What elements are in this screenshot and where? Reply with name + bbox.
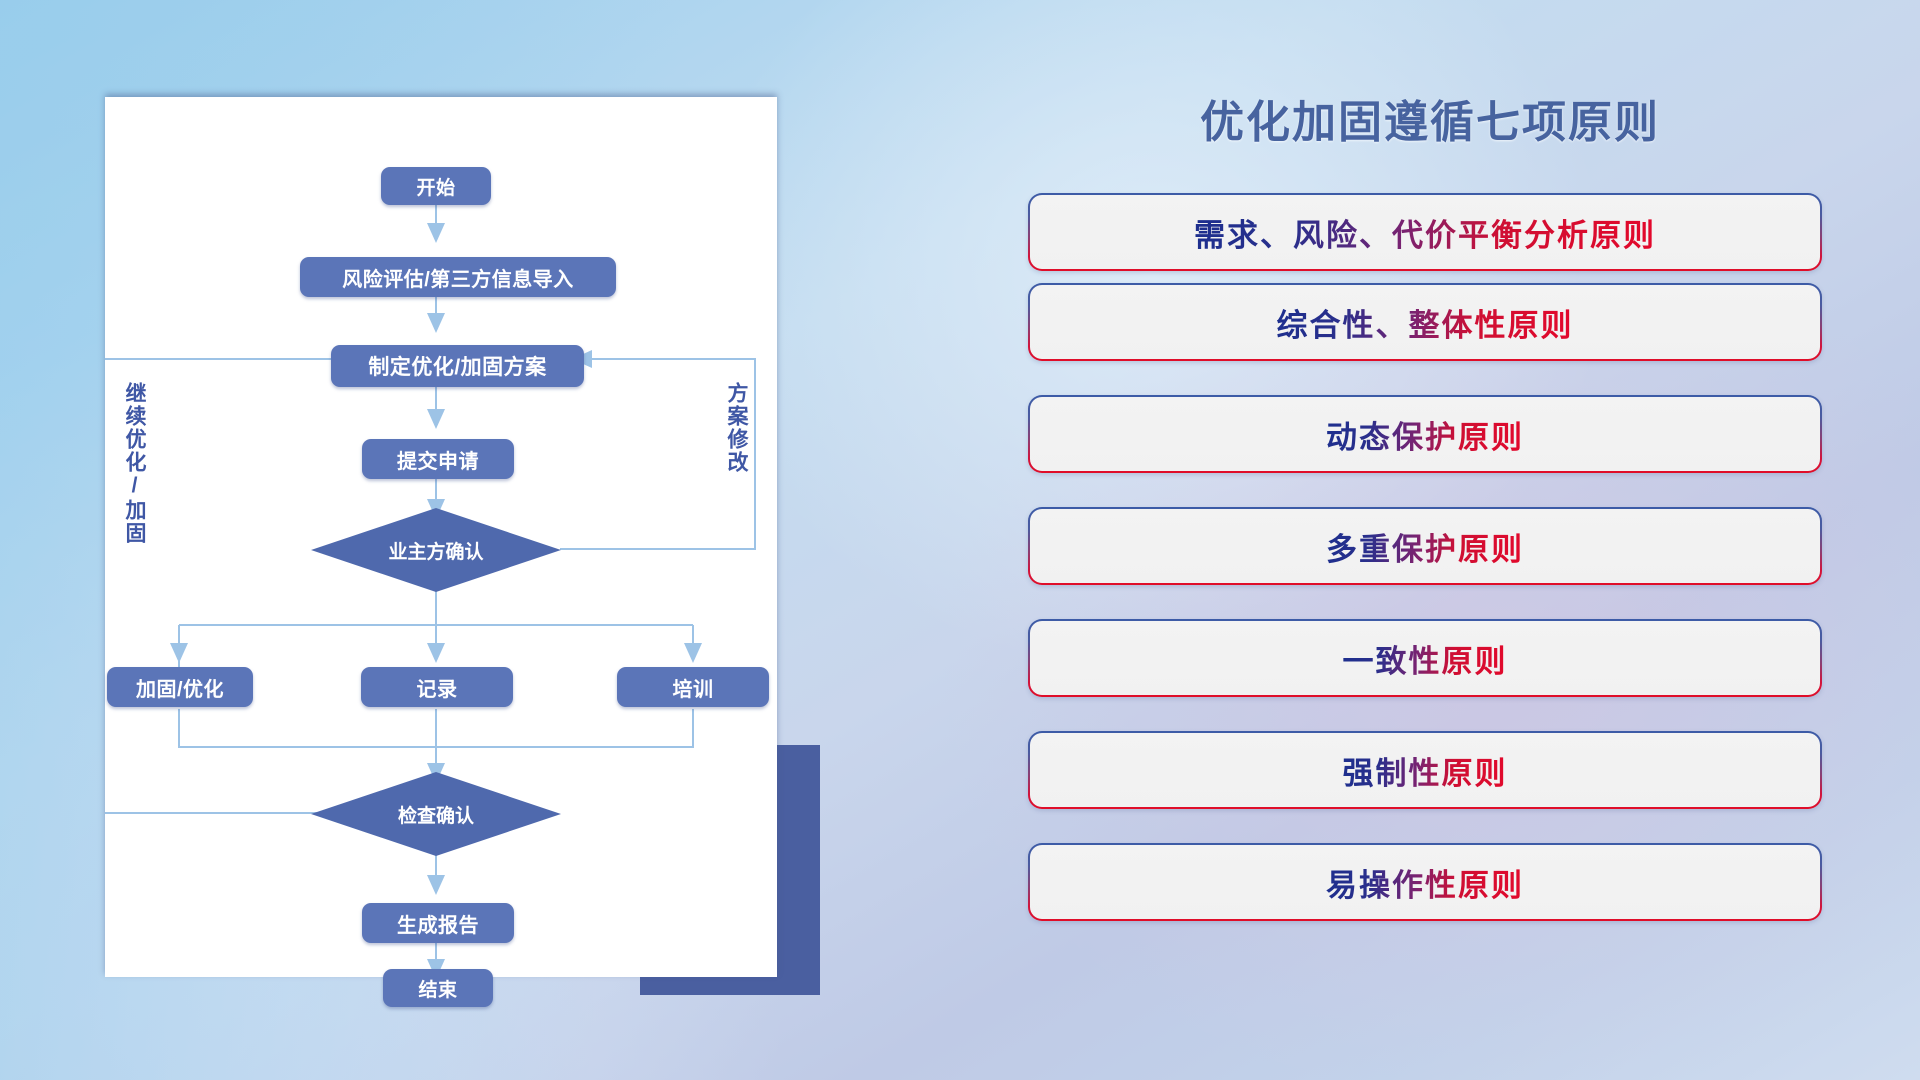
page-title: 优化加固遵循七项原则 bbox=[1020, 86, 1840, 150]
flow-node-training-label: 培训 bbox=[673, 673, 714, 702]
principle-card-7[interactable]: 易操作性原则 bbox=[1028, 843, 1822, 921]
flow-node-plan[interactable]: 制定优化/加固方案 bbox=[331, 345, 584, 387]
flow-node-risk-assessment-label: 风险评估/第三方信息导入 bbox=[342, 263, 574, 292]
principle-card-6-label: 强制性原则 bbox=[1343, 748, 1508, 793]
flow-node-plan-label: 制定优化/加固方案 bbox=[368, 351, 546, 381]
flow-node-end[interactable]: 结束 bbox=[383, 969, 493, 1007]
flow-node-generate-report[interactable]: 生成报告 bbox=[362, 903, 514, 943]
principle-card-1[interactable]: 需求、风险、代价平衡分析原则 bbox=[1028, 193, 1822, 271]
flow-node-submit-application[interactable]: 提交申请 bbox=[362, 439, 514, 479]
principle-card-4-label: 多重保护原则 bbox=[1326, 524, 1524, 569]
flow-node-reinforce-optimize[interactable]: 加固/优化 bbox=[107, 667, 253, 707]
principle-card-3[interactable]: 动态保护原则 bbox=[1028, 395, 1822, 473]
flow-node-generate-report-label: 生成报告 bbox=[397, 909, 479, 938]
principle-card-1-label: 需求、风险、代价平衡分析原则 bbox=[1194, 210, 1656, 255]
principle-card-2[interactable]: 综合性、整体性原则 bbox=[1028, 283, 1822, 361]
principle-card-5[interactable]: 一致性原则 bbox=[1028, 619, 1822, 697]
principle-card-7-label: 易操作性原则 bbox=[1326, 860, 1524, 905]
flow-node-start[interactable]: 开始 bbox=[381, 167, 491, 205]
flow-node-reinforce-optimize-label: 加固/优化 bbox=[136, 673, 224, 702]
flow-decision-owner-confirm-label: 业主方确认 bbox=[388, 537, 483, 564]
flow-decision-inspection-confirm-label: 检查确认 bbox=[398, 801, 474, 828]
flow-node-training[interactable]: 培训 bbox=[617, 667, 769, 707]
principle-card-6[interactable]: 强制性原则 bbox=[1028, 731, 1822, 809]
flow-edge-label-revise-plan: 方案修改 bbox=[725, 382, 747, 474]
flow-node-end-label: 结束 bbox=[418, 975, 457, 1002]
flow-node-submit-application-label: 提交申请 bbox=[397, 445, 479, 474]
flow-edge-label-continue-optimize: 继续优化/加固 bbox=[123, 382, 145, 545]
flow-node-risk-assessment[interactable]: 风险评估/第三方信息导入 bbox=[300, 257, 616, 297]
flow-node-start-label: 开始 bbox=[416, 173, 455, 200]
principle-card-3-label: 动态保护原则 bbox=[1326, 412, 1524, 457]
flow-node-record[interactable]: 记录 bbox=[361, 667, 513, 707]
flow-edge-label-continue-optimize-text: 继续优化/加固 bbox=[123, 382, 146, 545]
flowchart-canvas: 开始 风险评估/第三方信息导入 制定优化/加固方案 提交申请 业主方确认 加固/… bbox=[105, 97, 777, 977]
flowchart-card: 开始 风险评估/第三方信息导入 制定优化/加固方案 提交申请 业主方确认 加固/… bbox=[105, 97, 777, 977]
principle-card-2-label: 综合性、整体性原则 bbox=[1277, 300, 1574, 345]
flow-node-record-label: 记录 bbox=[417, 673, 458, 702]
principles-panel: 优化加固遵循七项原则 需求、风险、代价平衡分析原则 综合性、整体性原则 动态保护… bbox=[1020, 86, 1840, 1006]
principle-card-5-label: 一致性原则 bbox=[1343, 636, 1508, 681]
flow-edge-label-revise-plan-text: 方案修改 bbox=[725, 382, 748, 474]
principle-card-4[interactable]: 多重保护原则 bbox=[1028, 507, 1822, 585]
